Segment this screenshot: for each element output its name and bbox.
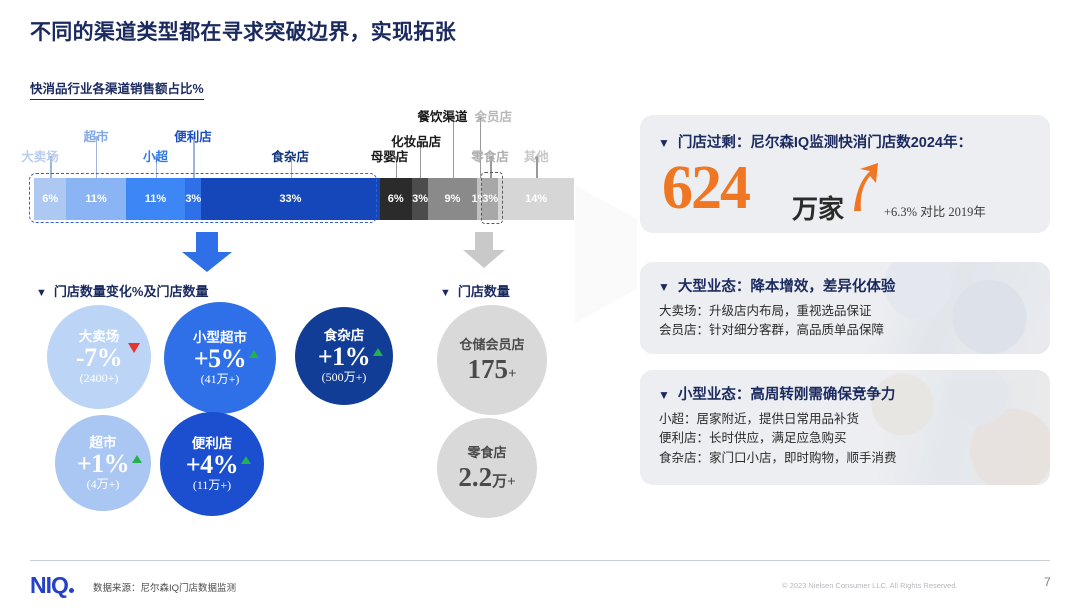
bar-label-超市: 超市 bbox=[84, 126, 109, 145]
bar-label-食杂店: 食杂店 bbox=[272, 146, 310, 165]
bubble-value: +1% bbox=[77, 451, 129, 477]
card-store-surplus[interactable]: ▼门店过剩：尼尔森IQ监测快消门店数2024年： 624 万家 +6.3% 对比… bbox=[640, 115, 1050, 233]
copyright-note: © 2023 Nielsen Consumer LLC. All Rights … bbox=[782, 581, 958, 590]
bar-label-零食店: 零食店 bbox=[471, 146, 509, 165]
bar-segment-value: 6% bbox=[42, 193, 58, 205]
bar-label-小超: 小超 bbox=[143, 146, 168, 165]
bar-segment-10[interactable]: 14% bbox=[498, 178, 574, 220]
bubble-subvalue: (4万+) bbox=[87, 478, 120, 490]
down-arrow-blue-icon bbox=[180, 232, 234, 274]
trend-down-icon bbox=[128, 343, 140, 353]
count-bubble-unit: 万+ bbox=[492, 474, 516, 490]
count-bubble-unit: + bbox=[508, 366, 517, 382]
card1-title: ▼门店过剩：尼尔森IQ监测快消门店数2024年： bbox=[658, 131, 1050, 152]
bubble-value: +4% bbox=[186, 452, 238, 478]
source-note: 数据来源：尼尔森IQ门店数据监测 bbox=[93, 580, 236, 594]
bar-segment-value: 9% bbox=[444, 193, 460, 205]
bar-label-便利店: 便利店 bbox=[174, 126, 212, 145]
card3-line-2: 便利店：长时供应，满足应急购买 bbox=[659, 429, 1050, 448]
bubble-value: +5% bbox=[194, 346, 246, 372]
bar-segment-value: 14% bbox=[525, 193, 547, 205]
bar-segment-0[interactable]: 6% bbox=[34, 178, 66, 220]
bar-segment-5[interactable]: 6% bbox=[380, 178, 412, 220]
page-title: 不同的渠道类型都在寻求突破边界，实现拓张 bbox=[30, 16, 456, 46]
count-bubble-label: 仓储会员店 bbox=[459, 338, 524, 351]
trend-up-icon bbox=[241, 456, 251, 464]
bar-segment-1[interactable]: 11% bbox=[66, 178, 125, 220]
bar-label-化妆品店: 化妆品店 bbox=[391, 131, 441, 150]
triangle-icon: ▼ bbox=[36, 287, 47, 299]
bar-label-餐饮渠道: 餐饮渠道 bbox=[418, 106, 468, 125]
stacked-bar-chart: 6%11%11%3%33%6%3%9%1%3%14% bbox=[34, 178, 574, 220]
big-number: 624 bbox=[662, 157, 749, 219]
bubble-subvalue: (2400+) bbox=[80, 372, 119, 384]
bar-label-其他: 其他 bbox=[524, 146, 549, 165]
bar-segment-9[interactable]: 3% bbox=[482, 178, 498, 220]
bar-segment-4[interactable]: 33% bbox=[201, 178, 379, 220]
connector-wedge bbox=[575, 185, 645, 325]
card2-line-1: 大卖场：升级店内布局，重视选品保证 bbox=[659, 302, 1050, 321]
card3-line-1: 小超：居家附近，提供日常用品补货 bbox=[659, 410, 1050, 429]
niq-logo: NIQ bbox=[30, 572, 74, 599]
bubble-label: 便利店 bbox=[192, 437, 233, 451]
trend-up-icon bbox=[132, 455, 142, 463]
bar-segment-value: 3% bbox=[482, 193, 498, 205]
bar-segment-value: 11% bbox=[85, 193, 106, 205]
slide-root: 不同的渠道类型都在寻求突破边界，实现拓张 快消品行业各渠道销售额占比% 大卖场超… bbox=[0, 0, 1080, 608]
count-bubble-label: 零食店 bbox=[467, 446, 506, 459]
card2-line-2: 会员店：针对细分客群，高品质单品保障 bbox=[659, 321, 1050, 340]
card3-title: ▼小型业态：高周转刚需确保竞争力 bbox=[658, 383, 1050, 404]
bar-segment-3[interactable]: 3% bbox=[185, 178, 201, 220]
caption-store-count: ▼门店数量 bbox=[440, 281, 510, 300]
bubble-食杂店[interactable]: 食杂店+1%(500万+) bbox=[295, 307, 393, 405]
bubble-label: 超市 bbox=[90, 436, 117, 450]
card-large-format[interactable]: ▼大型业态：降本增效，差异化体验 大卖场：升级店内布局，重视选品保证 会员店：针… bbox=[640, 262, 1050, 354]
bar-segment-value: 6% bbox=[388, 193, 404, 205]
delta-text: +6.3% 对比 2019年 bbox=[884, 201, 986, 220]
card-small-format[interactable]: ▼小型业态：高周转刚需确保竞争力 小超：居家附近，提供日常用品补货 便利店：长时… bbox=[640, 370, 1050, 485]
bubble-subvalue: (500万+) bbox=[322, 371, 367, 383]
big-unit: 万家 bbox=[792, 189, 844, 226]
bubble-subvalue: (41万+) bbox=[201, 373, 240, 385]
bar-segment-value: 11% bbox=[145, 193, 166, 205]
card2-title: ▼大型业态：降本增效，差异化体验 bbox=[658, 275, 1050, 296]
bubble-小型超市[interactable]: 小型超市+5%(41万+) bbox=[164, 302, 276, 414]
card3-line-3: 食杂店：家门口小店，即时购物，顺手消费 bbox=[659, 449, 1050, 468]
bubble-value: -7% bbox=[76, 345, 122, 371]
bubble-大卖场[interactable]: 大卖场-7%(2400+) bbox=[47, 305, 151, 409]
bar-segment-7[interactable]: 9% bbox=[428, 178, 477, 220]
count-bubble-value: 175+ bbox=[467, 356, 516, 383]
trend-up-icon bbox=[249, 350, 259, 358]
triangle-icon: ▼ bbox=[440, 287, 451, 299]
down-arrow-grey-icon bbox=[461, 232, 507, 270]
triangle-icon: ▼ bbox=[658, 388, 670, 402]
bubble-label: 食杂店 bbox=[324, 329, 365, 343]
page-number: 7 bbox=[1044, 575, 1051, 589]
trend-up-icon bbox=[373, 348, 383, 356]
bar-label-leader-7 bbox=[453, 118, 454, 178]
bar-label-会员店: 会员店 bbox=[475, 106, 513, 125]
chart-subtitle: 快消品行业各渠道销售额占比% bbox=[30, 78, 204, 100]
bubble-label: 大卖场 bbox=[79, 330, 120, 344]
bubble-label: 小型超市 bbox=[193, 331, 247, 345]
bar-segment-value: 33% bbox=[279, 193, 301, 205]
stacked-bar: 6%11%11%3%33%6%3%9%1%3%14% bbox=[34, 178, 574, 220]
bubble-超市[interactable]: 超市+1%(4万+) bbox=[55, 415, 151, 511]
bar-segment-6[interactable]: 3% bbox=[412, 178, 428, 220]
bubble-value: +1% bbox=[318, 344, 370, 370]
bubble-subvalue: (11万+) bbox=[193, 479, 231, 491]
count-bubble-仓储会员店[interactable]: 仓储会员店175+ bbox=[437, 305, 547, 415]
caption-store-change: ▼门店数量变化%及门店数量 bbox=[36, 281, 208, 300]
triangle-icon: ▼ bbox=[658, 280, 670, 294]
up-arrow-icon bbox=[848, 163, 880, 213]
count-bubble-value: 2.2万+ bbox=[458, 464, 515, 491]
bar-label-大卖场: 大卖场 bbox=[21, 146, 59, 165]
logo-dot bbox=[69, 588, 74, 593]
triangle-icon: ▼ bbox=[658, 136, 670, 150]
footer-divider bbox=[30, 560, 1050, 561]
bar-segment-value: 3% bbox=[185, 193, 201, 205]
count-bubble-零食店[interactable]: 零食店2.2万+ bbox=[437, 418, 537, 518]
bubble-便利店[interactable]: 便利店+4%(11万+) bbox=[160, 412, 264, 516]
bar-segment-2[interactable]: 11% bbox=[126, 178, 185, 220]
bar-segment-value: 3% bbox=[412, 193, 428, 205]
